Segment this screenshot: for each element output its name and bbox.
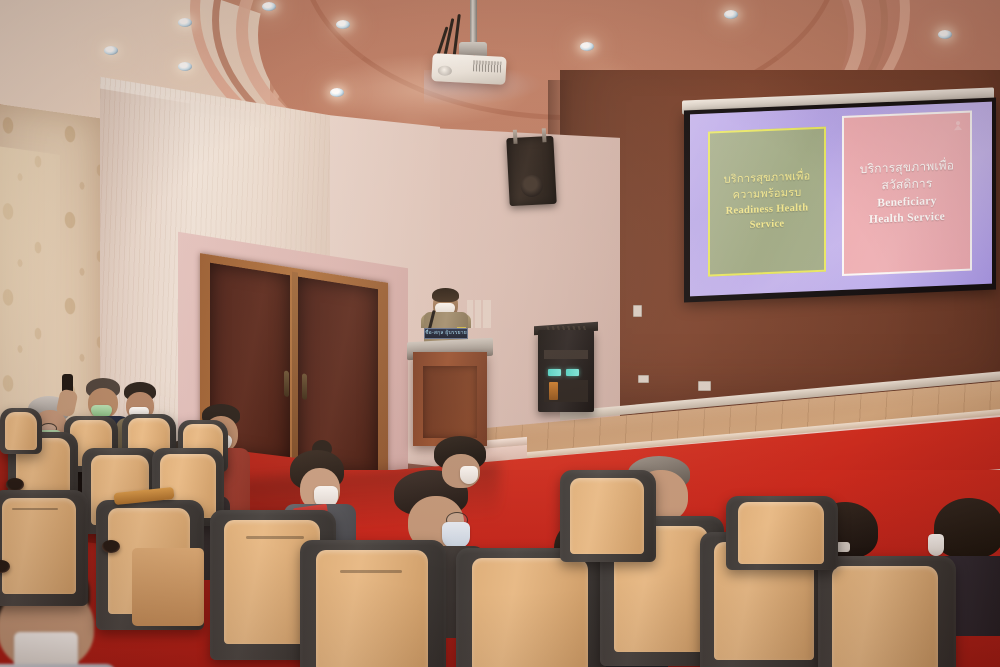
podium-front-panel [423,366,477,438]
seat-pad [570,478,644,554]
rack-display-icon [548,369,561,376]
speaking-podium [413,352,487,446]
seat-seam [246,536,304,539]
seat-pad [2,498,76,594]
speaker-bracket [542,128,547,142]
downlight-icon [262,2,276,11]
downlight-icon [178,18,192,27]
door-handle-icon[interactable] [302,373,307,400]
door-mullion [292,272,298,471]
wall-plate-icon [633,305,642,317]
downlight-icon [724,10,738,19]
downlight-icon [580,42,594,51]
slide-thai-line-2: สวัสดิการ [881,175,932,195]
seat-pad [5,412,37,450]
rack-display-icon [566,369,579,376]
downlight-icon [104,46,118,55]
door-leaf-right[interactable] [298,277,378,478]
downlight-icon [178,62,192,71]
seat-pad [738,502,824,564]
rack-indicator-icon [549,382,558,400]
wall-speaker [506,136,556,206]
face-mask [460,466,478,484]
face-mask [14,632,78,667]
projector-lens-icon [438,65,453,76]
slide-english-line-2: Service [750,217,785,234]
cupholder-icon [102,540,120,553]
seat-cushion [132,548,204,626]
face-mask [442,522,470,548]
downlight-icon [938,30,952,39]
projector-label [473,60,502,72]
speaker-bracket [513,130,518,144]
slide-watermark-icon [952,119,964,132]
ceiling-projector [431,53,506,85]
downlight-icon [330,88,344,97]
presenter-hair [432,288,459,302]
slide-english-line-1: Readiness Health [726,201,809,220]
auditorium-photo: บริการสุขภาพเพื่อ ความพร้อมรบ Readiness … [0,0,1000,667]
podium-nameplate-text: ชื่อ-สกุล ผู้บรรยาย [425,329,467,338]
seat-seam [12,508,58,510]
seat-pad [832,566,938,667]
projection-screen: บริการสุขภาพเพื่อ ความพร้อมรบ Readiness … [690,102,992,297]
hair-clip-icon [836,542,850,552]
av-equipment-rack [538,330,594,412]
slide-thai-line-1: บริการสุขภาพเพื่อ [860,157,954,178]
slide-english-line-2: Health Service [869,209,945,229]
seat-seam [340,570,402,573]
projector-mount-pole [470,0,477,44]
downlight-icon [336,20,350,29]
door-handle-icon[interactable] [284,370,289,397]
seat-pad [472,558,588,667]
speaker-driver-icon [520,174,543,197]
seat-pad [316,550,428,667]
slide-panel-readiness: บริการสุขภาพเพื่อ ความพร้อมรบ Readiness … [708,127,826,277]
podium-nameplate: ชื่อ-สกุล ผู้บรรยาย [424,328,468,339]
wall-plate-icon [638,375,649,383]
slide-panel-beneficiary: บริการสุขภาพเพื่อ สวัสดิการ Beneficiary … [842,111,972,276]
face-mask [928,534,944,556]
rack-panel [544,350,588,359]
wall-outlet-icon [698,381,711,391]
